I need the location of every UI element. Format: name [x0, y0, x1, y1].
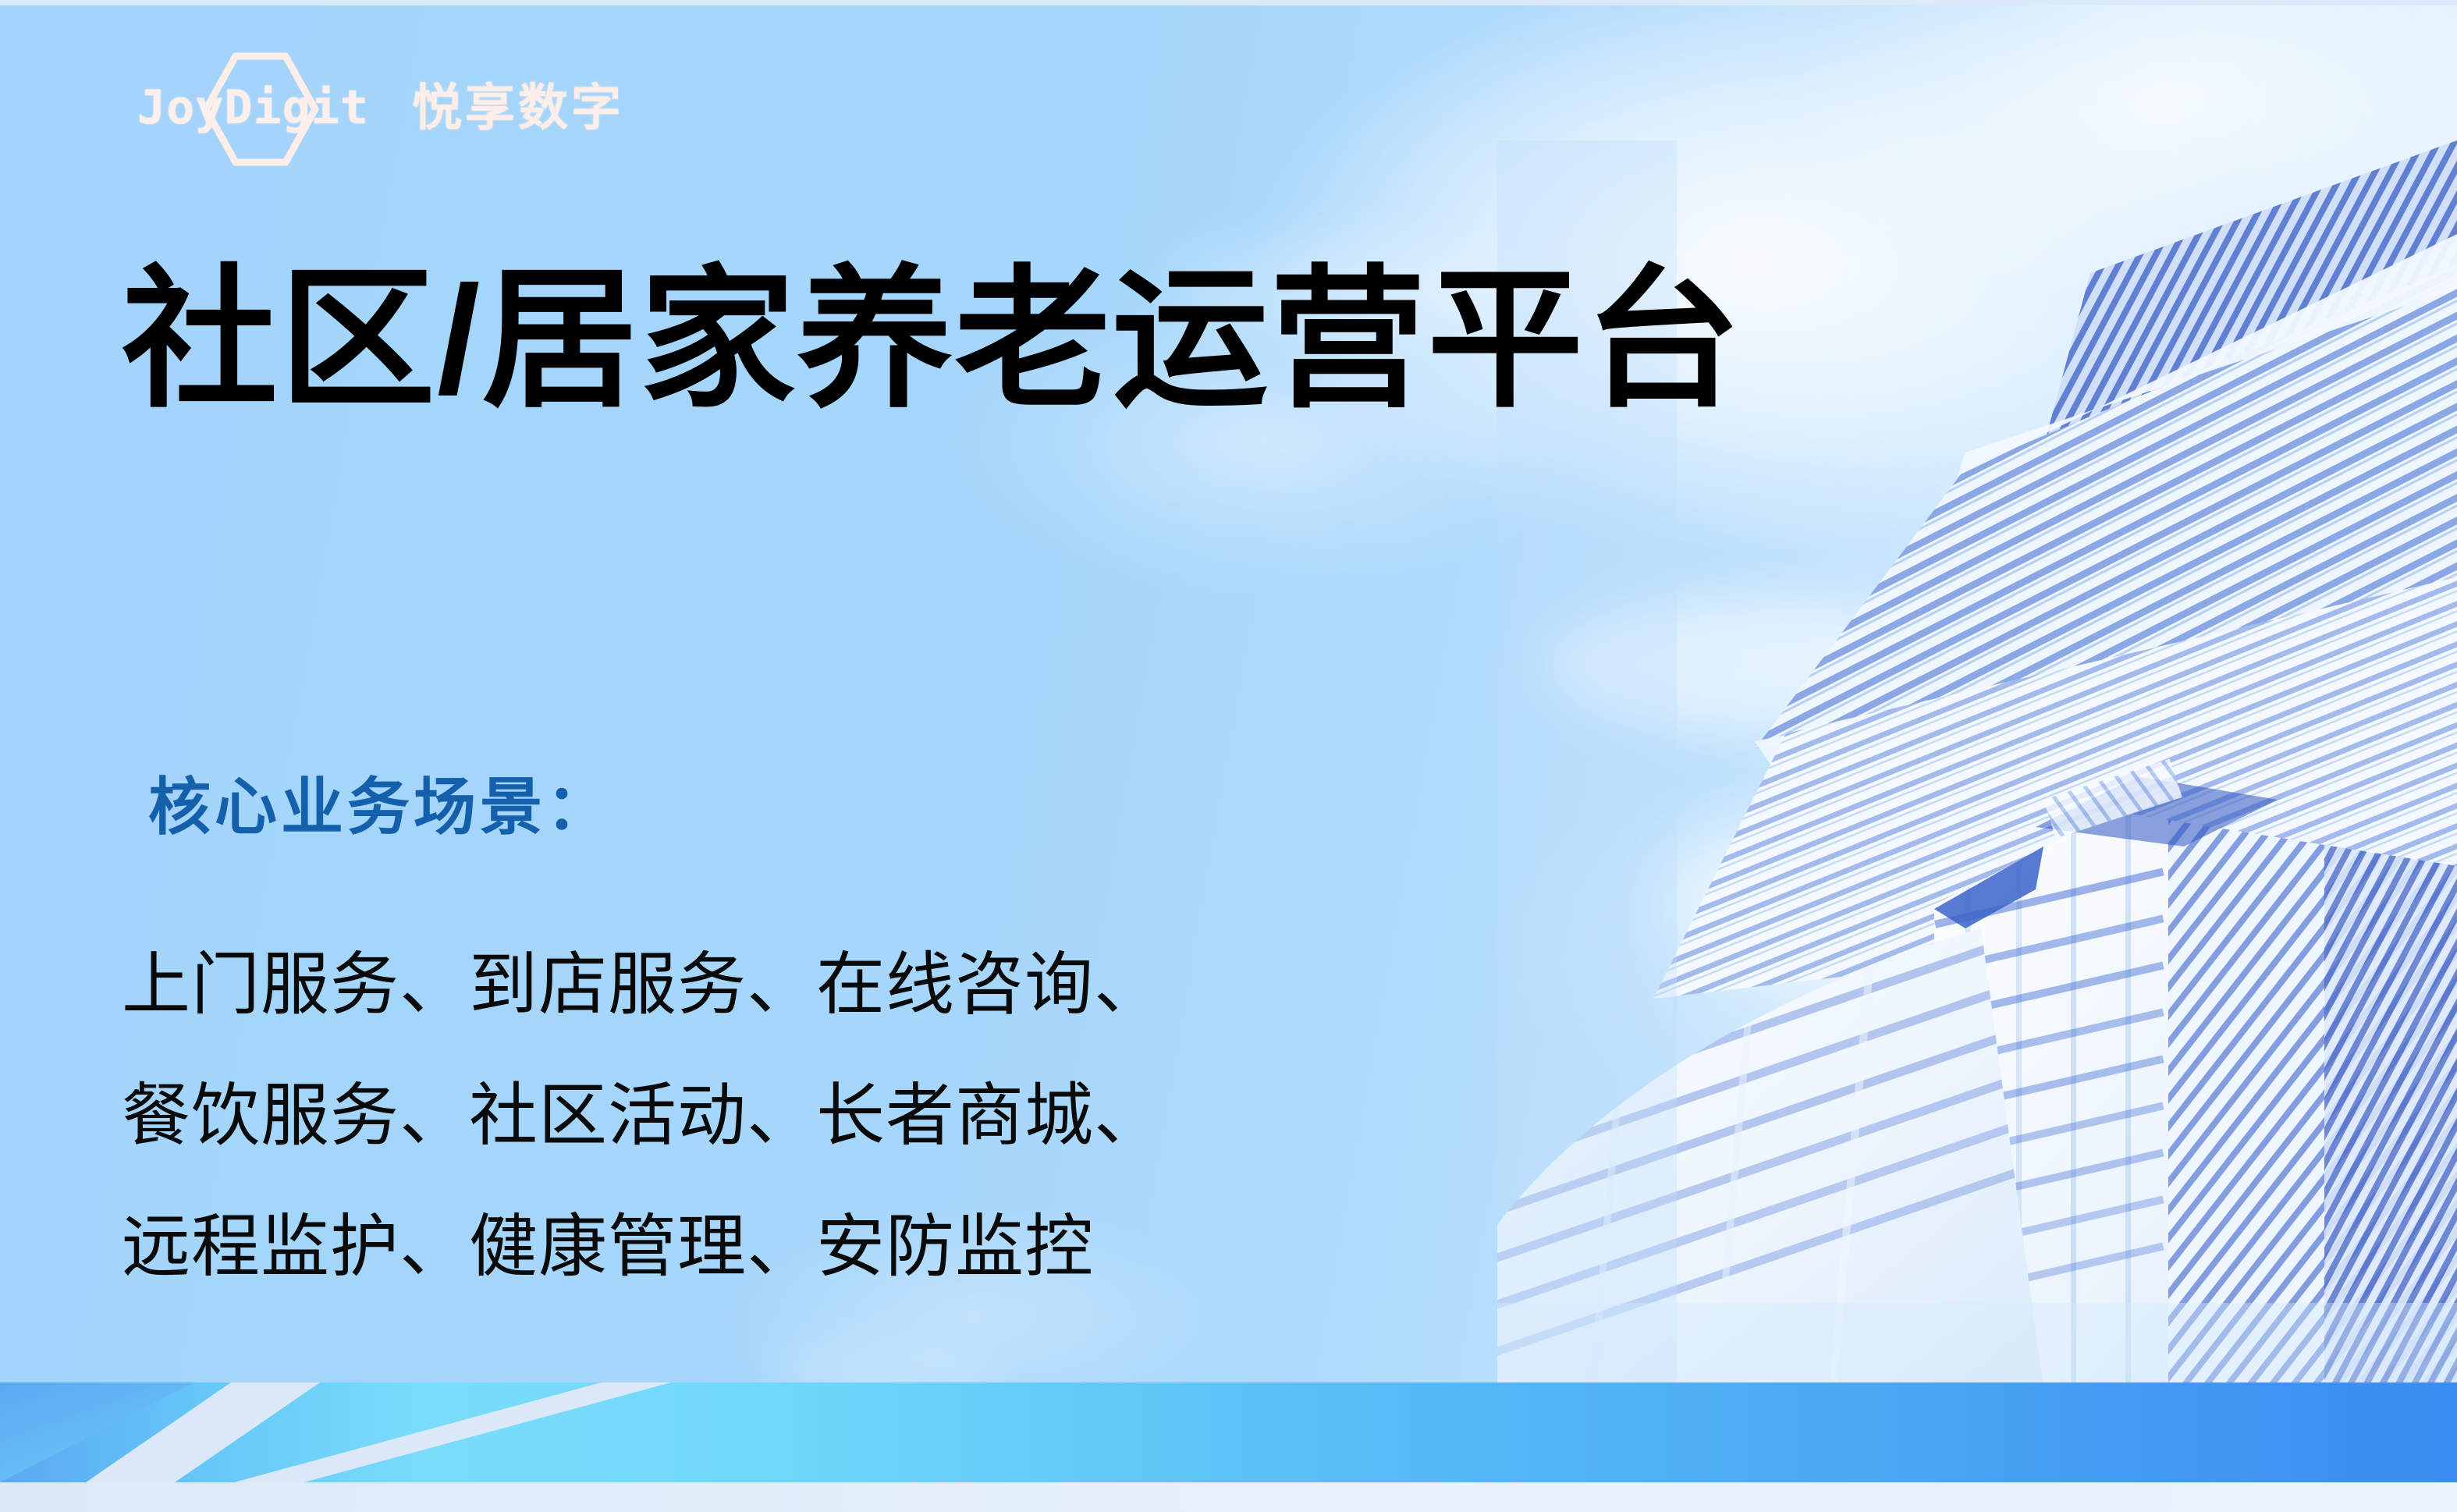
- bar-under-strip: [0, 1482, 2457, 1512]
- scenario-line: 上门服务、到店服务、在线咨询、: [122, 919, 1604, 1050]
- cloud-wisp: [1545, 598, 1951, 731]
- slide-canvas: JoyDigit 悦享数字 社区/居家养老运营平台 核心业务场景： 上门服务、到…: [0, 0, 2457, 1512]
- cloud-wisp: [1654, 817, 1951, 981]
- page-title: 社区/居家养老运营平台: [122, 254, 1742, 426]
- bar-band: [0, 1382, 2457, 1482]
- brand-logo: JoyDigit 悦享数字: [137, 72, 624, 144]
- scenario-list: 上门服务、到店服务、在线咨询、 餐饮服务、社区活动、长者商城、 远程监护、健康管…: [122, 919, 1604, 1312]
- logo-chinese-name: 悦享数字: [412, 72, 624, 144]
- top-edge-strip: [0, 0, 2457, 5]
- logo-mark: JoyDigit: [137, 72, 395, 144]
- scenario-line: 远程监护、健康管理、安防监控: [122, 1181, 1604, 1312]
- section-subhead: 核心业务场景：: [148, 765, 612, 850]
- scenario-line: 餐饮服务、社区活动、长者商城、: [122, 1050, 1604, 1181]
- cloud-wisp: [2068, 1176, 2403, 1293]
- logo-wordmark: JoyDigit: [137, 83, 369, 133]
- bottom-decor-bar: [0, 1382, 2457, 1512]
